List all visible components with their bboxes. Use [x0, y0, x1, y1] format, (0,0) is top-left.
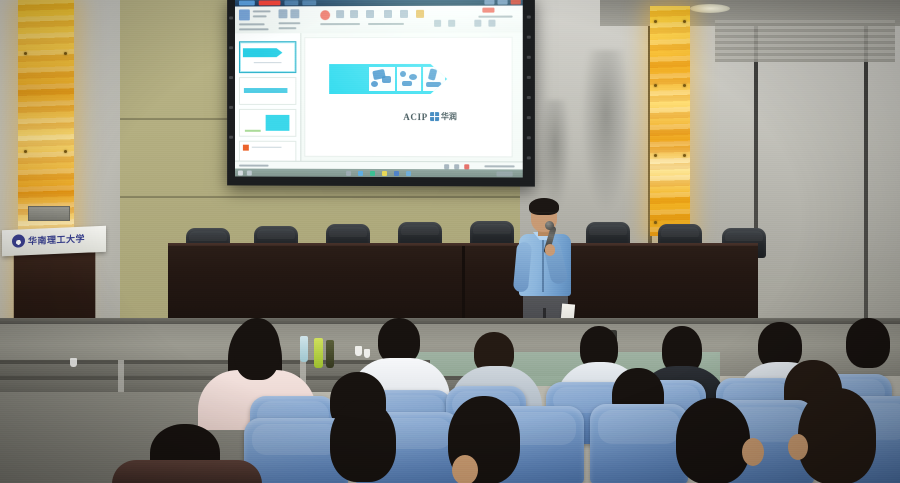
auditorium-seat[interactable] [590, 404, 688, 483]
ceiling-light [690, 4, 730, 13]
slide-canvas[interactable]: ACIP 华润 [304, 37, 512, 158]
slide-thumbnail-3[interactable] [239, 109, 296, 137]
ribbon-editing-button[interactable] [474, 20, 481, 27]
paper-cup [70, 358, 77, 367]
slide-logo-chinese: 华润 [441, 111, 457, 122]
banner-photo-1 [369, 67, 395, 91]
ribbon-paste-button[interactable] [239, 9, 250, 20]
system-tray[interactable] [496, 171, 512, 176]
powerpoint-window[interactable]: ACIP 华润 [235, 0, 523, 178]
chrome-icon[interactable] [358, 170, 363, 175]
slide-thumbnail-4[interactable] [239, 141, 296, 163]
microphone-head [545, 221, 554, 230]
ceiling-louvre-vent [715, 20, 895, 62]
table-panel-seam [462, 246, 465, 324]
ribbon-dictate-button[interactable] [488, 20, 495, 27]
ribbon-find-button[interactable] [416, 10, 424, 18]
ribbon-quickstyles-button[interactable] [350, 10, 358, 18]
drink-bottle-green [314, 338, 323, 368]
audience-head-front [798, 388, 876, 483]
powerpoint-ribbon[interactable] [235, 5, 523, 34]
powerpoint-workspace: ACIP 华润 [235, 33, 523, 162]
ribbon-effects-button[interactable] [400, 10, 408, 18]
university-emblem-icon [12, 234, 25, 248]
projection-screen: ACIP 华润 [227, 0, 535, 187]
powerpoint-icon[interactable] [394, 171, 399, 176]
podium-top: 华南理工大学 [2, 226, 106, 257]
tab-design[interactable] [302, 0, 316, 5]
audience-head-front [676, 398, 750, 483]
tab-file[interactable] [239, 0, 255, 5]
audience-ear [742, 438, 764, 466]
slide-thumbnail-1[interactable] [239, 41, 296, 73]
slide-logo-acip: ACIP [403, 112, 427, 122]
mail-icon[interactable] [370, 170, 375, 175]
ribbon-layout-button[interactable] [290, 9, 299, 18]
explorer-icon[interactable] [346, 170, 351, 175]
ribbon-arrange-button[interactable] [336, 10, 344, 18]
wall-smudge [540, 100, 570, 210]
ribbon-outline-button[interactable] [384, 10, 392, 18]
ribbon-share-button[interactable] [482, 8, 494, 13]
start-icon[interactable] [238, 170, 243, 175]
slide-thumbnail-pane[interactable] [235, 33, 301, 161]
eyeglasses-icon [532, 212, 556, 218]
ribbon-shapes-button[interactable] [320, 10, 330, 20]
window-maximize-button[interactable] [498, 0, 508, 5]
paper-cup [355, 346, 362, 356]
folder-icon[interactable] [382, 171, 387, 176]
audience-neck [452, 455, 478, 483]
screen-surface: ACIP 华润 [235, 0, 523, 178]
paper-cup [364, 349, 370, 358]
podium-sign-text: 华南理工大学 [28, 232, 85, 247]
backlit-onyx-column-right [650, 6, 690, 236]
ribbon-select-button[interactable] [448, 20, 455, 27]
speaker-hand [545, 244, 555, 256]
window-minimize-button[interactable] [484, 0, 494, 5]
banner-photo-2 [397, 67, 421, 91]
banner-photo-3 [423, 67, 445, 91]
audience-ear [788, 434, 808, 460]
tab-insert[interactable] [284, 0, 298, 5]
audience-head [234, 318, 280, 380]
ribbon-align-button[interactable] [434, 20, 441, 27]
slide-thumbnail-2[interactable] [239, 77, 296, 105]
slide-arrow-banner [329, 64, 447, 94]
water-bottle [300, 336, 308, 362]
audience-head [846, 318, 890, 368]
audience-shoulder [112, 460, 262, 483]
media-icon[interactable] [406, 171, 411, 176]
ribbon-fill-button[interactable] [366, 10, 374, 18]
ribbon-newslide-button[interactable] [279, 9, 288, 18]
column-name-plate [28, 206, 70, 221]
slide-logo: ACIP 华润 [391, 110, 469, 123]
audience-head-front [330, 400, 396, 482]
podium-sign: 华南理工大学 [12, 232, 85, 248]
tab-home[interactable] [259, 0, 281, 5]
slide-logo-mark-icon [430, 112, 439, 121]
search-icon[interactable] [247, 170, 252, 175]
wall-smudge [582, 50, 630, 210]
windows-taskbar[interactable] [235, 169, 523, 178]
auditorium-scene: ACIP 华润 [0, 0, 900, 483]
drink-bottle-dark [326, 340, 334, 368]
window-close-button[interactable] [511, 0, 521, 5]
